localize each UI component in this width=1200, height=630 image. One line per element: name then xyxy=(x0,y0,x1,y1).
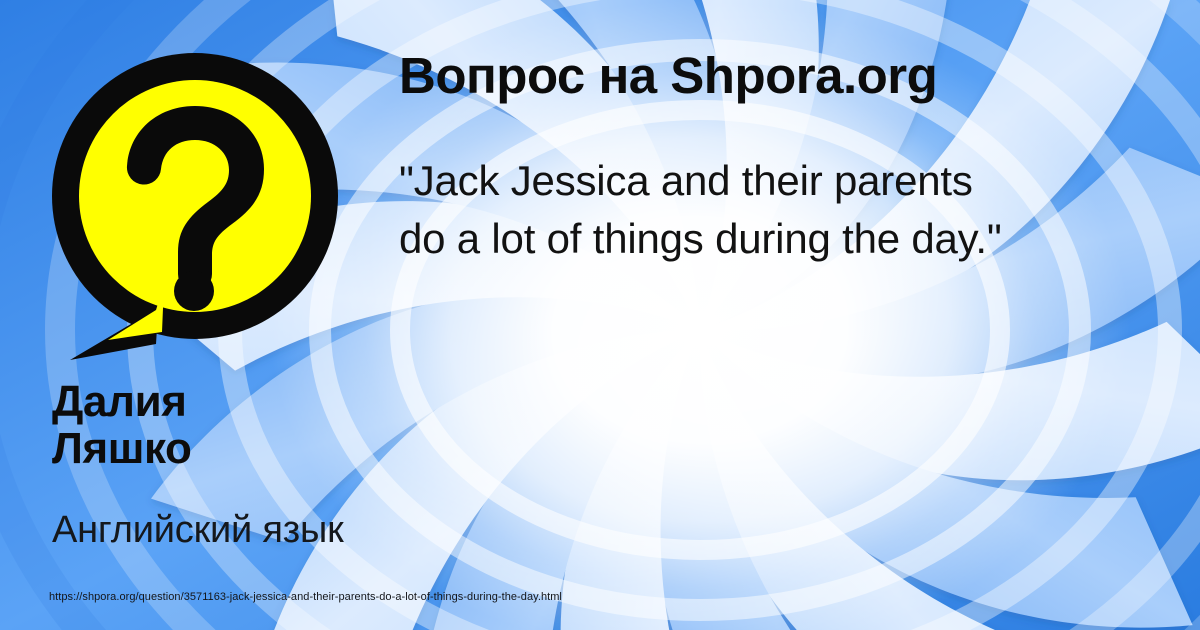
page-title: Вопрос на Shpora.org xyxy=(399,47,1189,105)
subject-label: Английский язык xyxy=(52,508,572,552)
question-share-card: Вопрос на Shpora.org "Jack Jessica and t… xyxy=(0,0,1200,630)
card-content: Вопрос на Shpora.org "Jack Jessica and t… xyxy=(0,0,1200,630)
author-name: Далия Ляшко xyxy=(52,378,392,472)
author-first-name: Далия xyxy=(52,378,392,425)
source-url[interactable]: https://shpora.org/question/3571163-jack… xyxy=(49,590,1159,604)
question-speech-bubble-icon xyxy=(52,48,352,368)
question-line-1: "Jack Jessica and their parents xyxy=(399,152,1189,210)
question-text: "Jack Jessica and their parents do a lot… xyxy=(399,152,1189,268)
question-line-2: do a lot of things during the day." xyxy=(399,210,1189,268)
author-last-name: Ляшко xyxy=(52,425,392,472)
